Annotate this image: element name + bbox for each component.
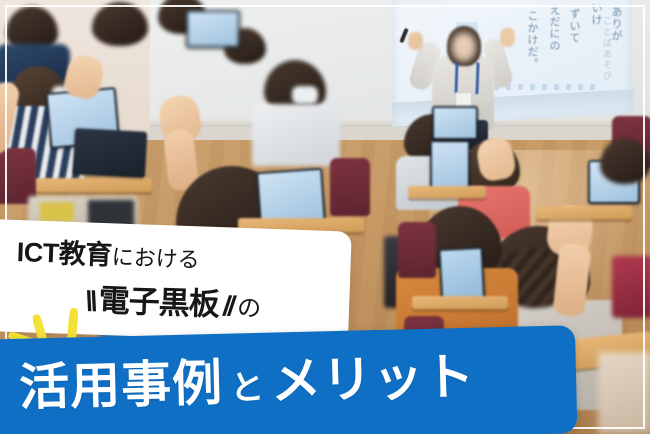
thumbnail-canvas: ありが いけ ずいて えだにの こかけだ。 ことばあそび <box>0 0 650 434</box>
desk <box>536 206 632 219</box>
chair <box>330 158 370 216</box>
projection-text-line-3: ずいて <box>566 8 582 44</box>
laptop-device <box>73 128 147 178</box>
student-shirt <box>252 104 340 166</box>
projection-text-line-4: えだにの <box>546 4 562 52</box>
teacher-face-blurred <box>452 33 476 62</box>
headline-tail-1: における <box>111 239 200 274</box>
teacher-right-hand <box>500 28 515 47</box>
tablet-device <box>430 140 470 192</box>
student-head <box>600 138 650 184</box>
banner-title-conjunction: と <box>223 360 272 410</box>
tablet-screen <box>432 142 468 190</box>
face-mask <box>292 86 318 104</box>
desk <box>24 178 152 192</box>
desk <box>408 186 486 198</box>
chair <box>398 222 436 278</box>
title-banner: 活用事例 と メリット <box>0 325 577 434</box>
laptop-keyboard <box>75 130 145 176</box>
banner-title-part-1: 活用事例 <box>18 343 224 420</box>
school-bag <box>612 256 650 318</box>
student-head <box>92 2 148 46</box>
banner-title: 活用事例 と メリット <box>18 337 476 420</box>
headline-tail-2: の <box>232 288 262 324</box>
teacher-left-hand <box>408 32 423 50</box>
notebook <box>40 202 74 222</box>
teacher-lanyard <box>454 62 479 95</box>
tablet-device <box>432 106 478 140</box>
banner-title-part-2: メリット <box>270 337 476 414</box>
projection-text-line-5: こかけだ。 <box>524 10 540 70</box>
headline-emphasis-ict: ICT教育 <box>16 230 112 272</box>
tablet-screen <box>188 12 238 46</box>
foreground-blur <box>598 352 650 434</box>
whiteboard-handwriting: ことばあそび <box>600 16 613 82</box>
headline-line-1: ICT教育 における <box>16 230 200 275</box>
tablet-screen <box>434 108 476 138</box>
tablet-device <box>186 10 240 48</box>
tablet-screen <box>258 170 323 224</box>
desk <box>412 296 508 309</box>
